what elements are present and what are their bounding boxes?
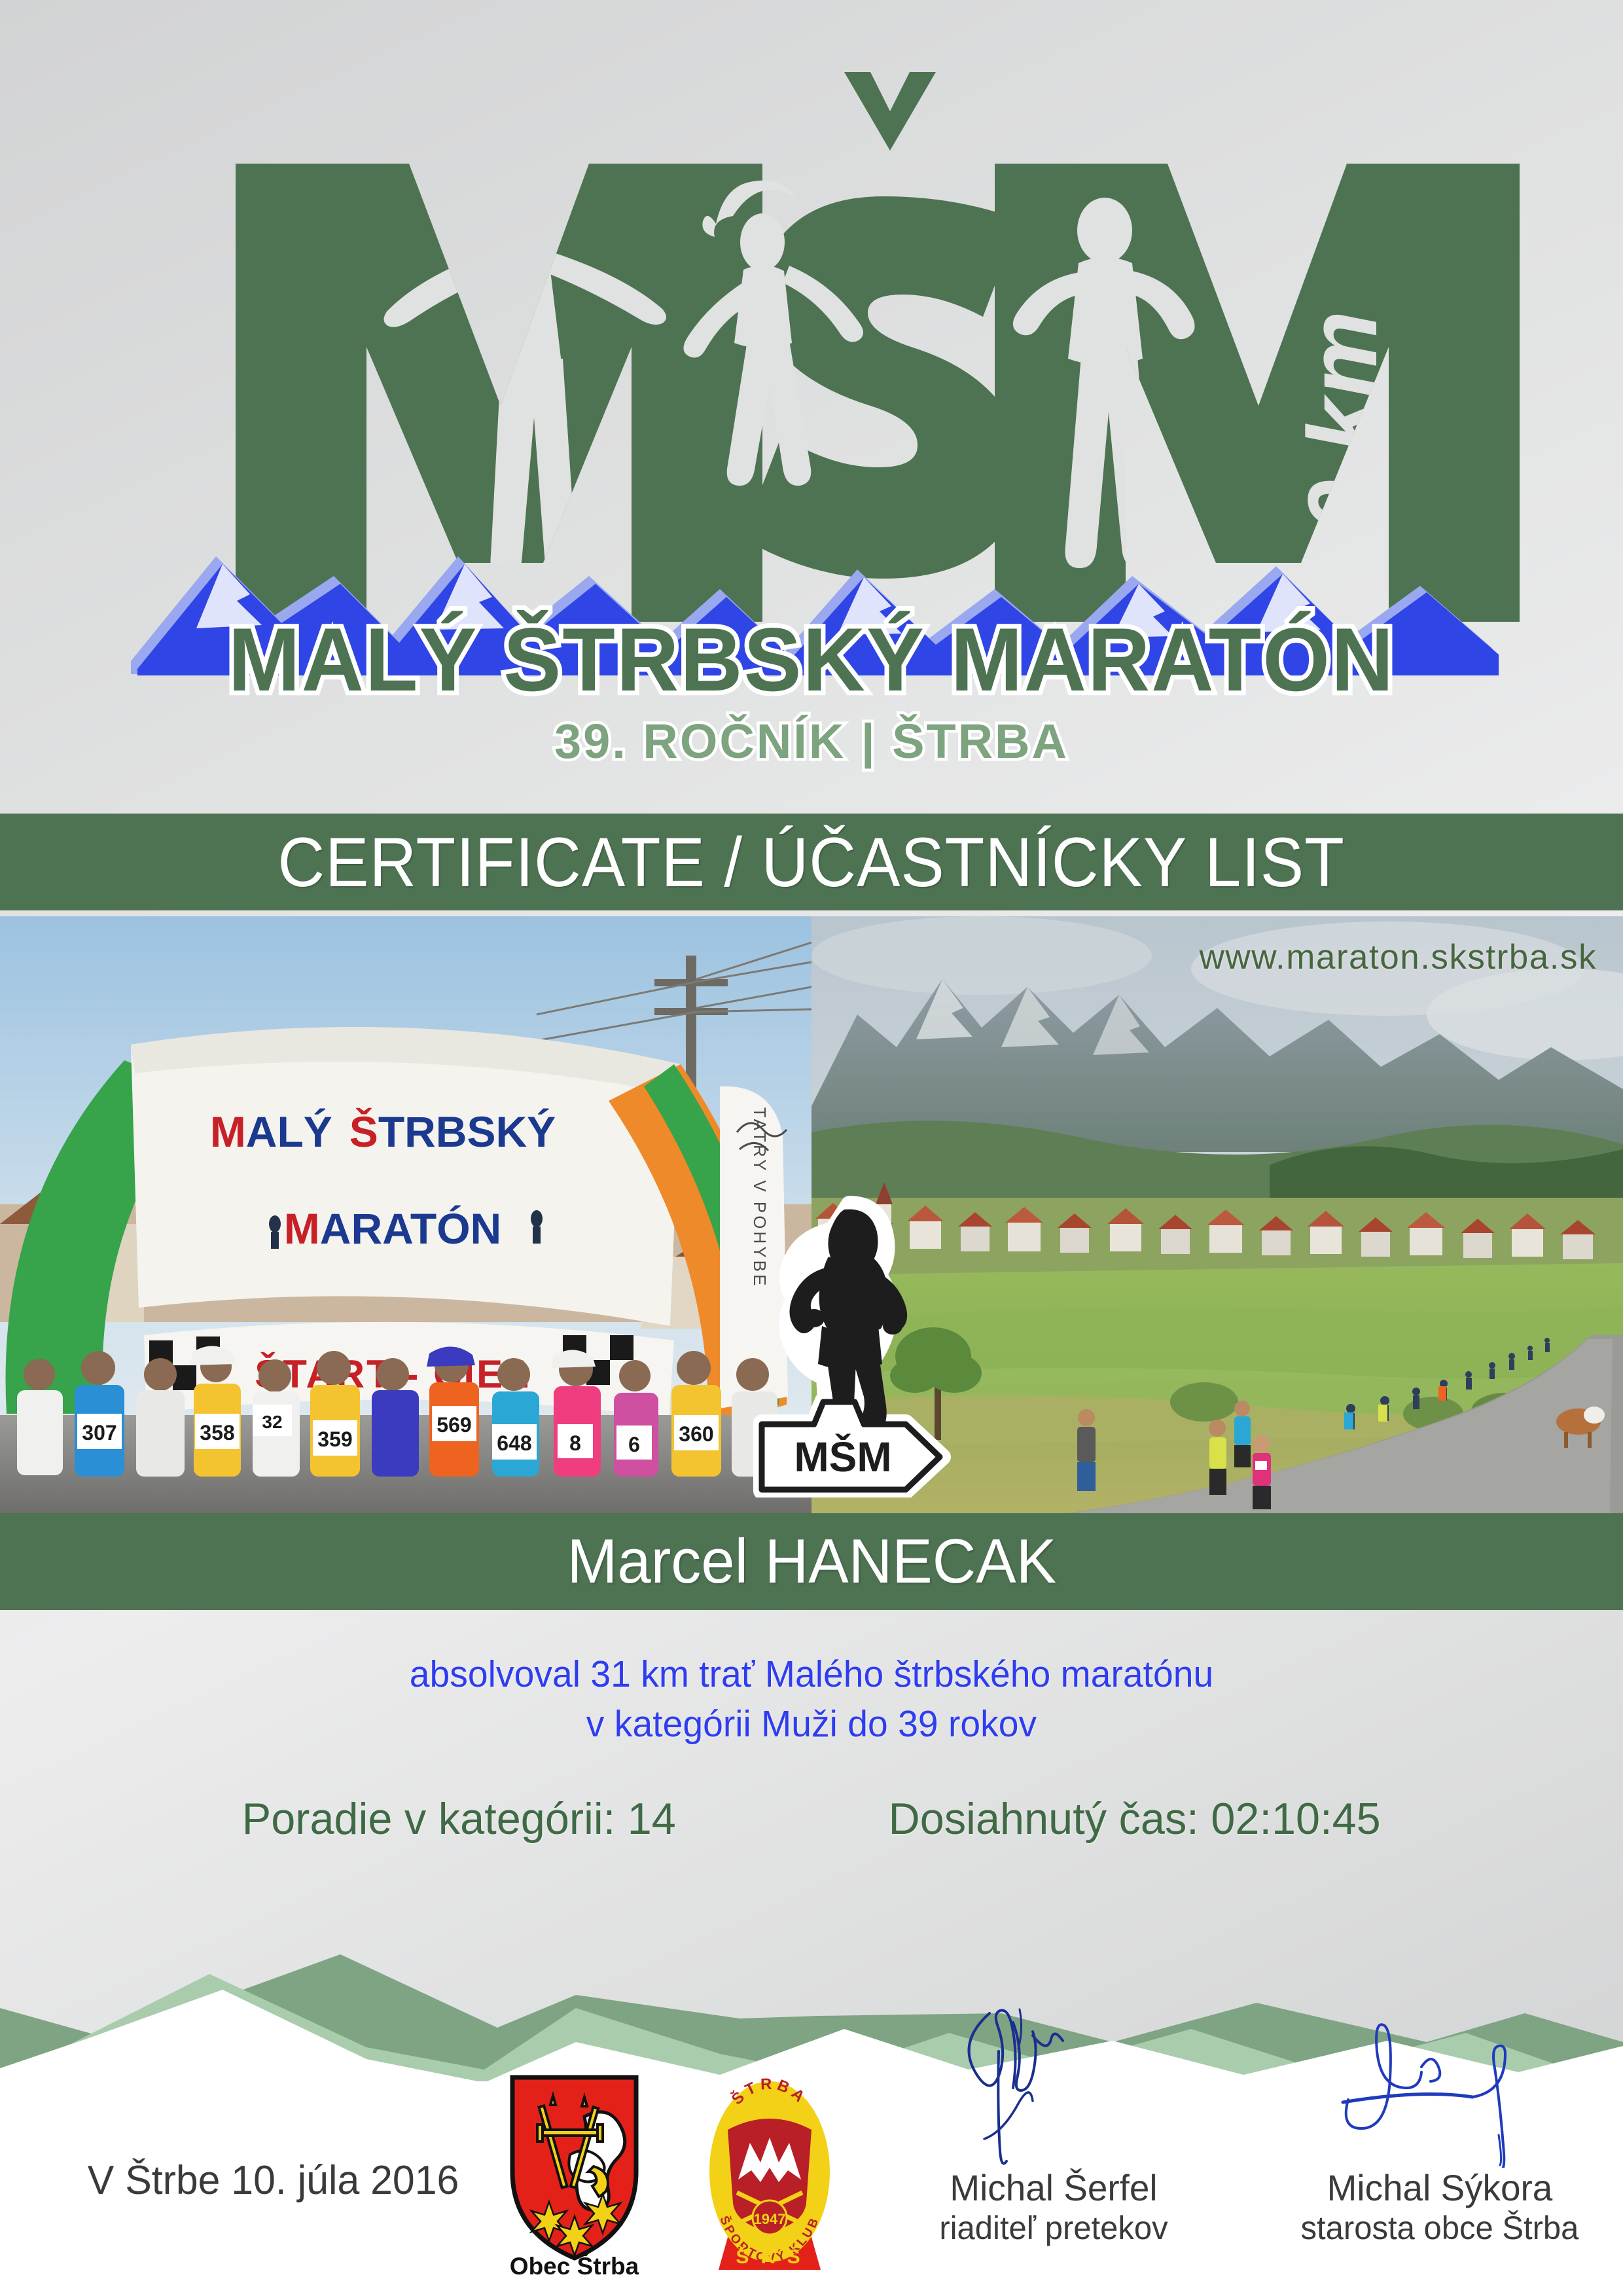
signature-serfel-icon bbox=[916, 2004, 1191, 2168]
achievement-line-1: absolvoval 31 km trať Malého štrbského m… bbox=[24, 1649, 1599, 1699]
finish-time: Dosiahnutý čas: 02:10:45 bbox=[888, 1793, 1380, 1844]
msm-runner-cutout: MŠM bbox=[751, 1190, 961, 1498]
certificate-page: 31 km bbox=[0, 0, 1623, 2296]
logo-letter-m-right: 10 km bbox=[995, 164, 1520, 622]
svg-text:6: 6 bbox=[628, 1433, 640, 1456]
svg-text:MARATÓN: MARATÓN bbox=[284, 1204, 501, 1253]
certificate-banner: CERTIFICATE / ÚČASTNÍCKY LIST bbox=[0, 814, 1623, 910]
svg-text:10 km: 10 km bbox=[1287, 311, 1397, 589]
achievement-line-2: v kategórii Muži do 39 rokov bbox=[24, 1699, 1599, 1749]
sks-club-emblem-icon: 1947 ŠTRBA ŠPORTOVÝ KLUB Š K Š bbox=[699, 2075, 840, 2271]
sks-year: 1947 bbox=[754, 2211, 786, 2227]
category-rank: Poradie v kategórii: 14 bbox=[242, 1793, 676, 1844]
results-row: Poradie v kategórii: 14 Dosiahnutý čas: … bbox=[0, 1793, 1623, 1844]
svg-text:360: 360 bbox=[679, 1422, 713, 1446]
obec-strba-crest-icon bbox=[507, 2073, 641, 2263]
signature-block-director: Michal Šerfel riaditeľ pretekov bbox=[851, 2004, 1257, 2248]
sks-bottom-text: Š K Š bbox=[736, 2246, 803, 2268]
obec-strba-label: Obec Štrba bbox=[507, 2253, 641, 2280]
website-url: www.maraton.skstrba.sk bbox=[1200, 937, 1597, 977]
svg-text:32: 32 bbox=[262, 1412, 282, 1432]
signature-name-mayor: Michal Sýkora bbox=[1241, 2168, 1623, 2208]
svg-text:358: 358 bbox=[200, 1421, 234, 1444]
signature-name-director: Michal Šerfel bbox=[855, 2168, 1253, 2208]
participant-name-banner: Marcel HANECAK bbox=[0, 1513, 1623, 1610]
event-logo: 31 km bbox=[0, 0, 1623, 792]
svg-text:307: 307 bbox=[82, 1421, 116, 1444]
svg-text:359: 359 bbox=[317, 1427, 352, 1451]
issue-date: V Štrbe 10. júla 2016 bbox=[88, 2157, 459, 2204]
logo-subtitle: 39. ROČNÍK | ŠTRBA bbox=[554, 714, 1069, 769]
logo-graphic: 31 km bbox=[0, 0, 1623, 792]
signature-block-mayor: Michal Sýkora starosta obce Štrba bbox=[1237, 2004, 1623, 2248]
certificate-title: CERTIFICATE / ÚČASTNÍCKY LIST bbox=[278, 821, 1345, 903]
svg-text:648: 648 bbox=[497, 1431, 531, 1455]
signature-role-director: riaditeľ pretekov bbox=[855, 2208, 1253, 2248]
signature-sykora-icon bbox=[1302, 2004, 1577, 2168]
logo-event-title: MALÝ ŠTRBSKÝ MARATÓN bbox=[228, 609, 1395, 710]
signature-role-mayor: starosta obce Štrba bbox=[1241, 2208, 1623, 2248]
achievement-text: absolvoval 31 km trať Malého štrbského m… bbox=[0, 1649, 1623, 1749]
svg-text:MALÝŠTRBSKÝ: MALÝŠTRBSKÝ bbox=[210, 1107, 556, 1156]
msm-cutout-label: MŠM bbox=[794, 1433, 891, 1480]
svg-text:8: 8 bbox=[569, 1431, 581, 1455]
photo-start-line: MALÝŠTRBSKÝ MARATÓN bbox=[0, 916, 811, 1513]
footer: V Štrbe 10. júla 2016 bbox=[0, 2081, 1623, 2296]
svg-text:569: 569 bbox=[437, 1413, 471, 1437]
participant-name: Marcel HANECAK bbox=[567, 1526, 1056, 1598]
